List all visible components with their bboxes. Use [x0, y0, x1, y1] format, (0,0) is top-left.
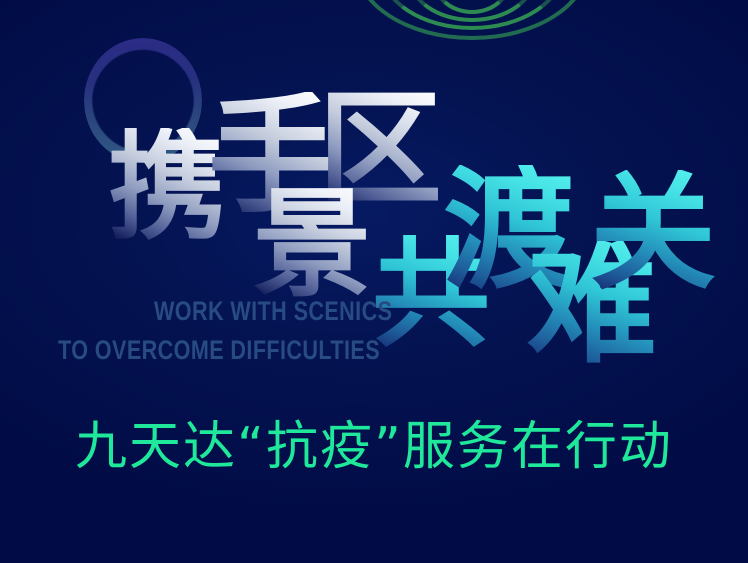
english-subheadline: WORK WITH SCENICS TO OVERCOME DIFFICULTI…	[58, 292, 392, 371]
headline-char-jing: 景	[253, 185, 371, 303]
english-line-1: WORK WITH SCENICS	[154, 292, 392, 331]
english-line-2: TO OVERCOME DIFFICULTIES	[58, 331, 392, 370]
poster-canvas: 携 手 区 景 共 渡 难 关 WORK WITH SCENICS TO OVE…	[0, 0, 748, 563]
headline-char-guan: 关	[590, 170, 716, 296]
bottom-tagline: 九天达“抗疫”服务在行动	[0, 418, 748, 478]
headline-group: 携 手 区 景 共 渡 难 关	[0, 0, 748, 563]
